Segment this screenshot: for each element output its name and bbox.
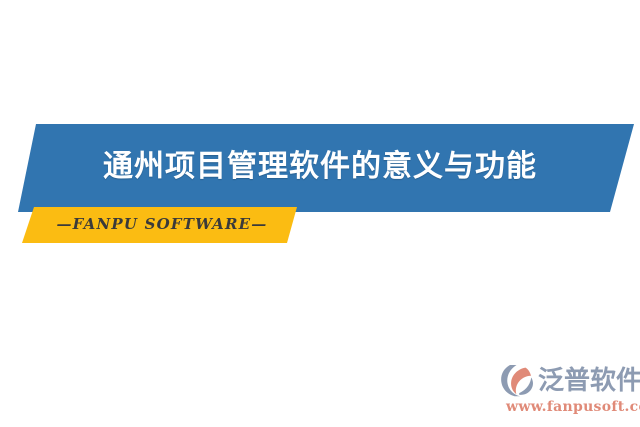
logo-url: www.fanpusoft.com [506,399,640,415]
fanpu-logo: 泛普软件 www.fanpusoft.com [500,362,638,418]
slide-subtitle: —FANPU SOFTWARE— [52,214,272,234]
logo-row: 泛普软件 [500,362,640,400]
logo-wordmark: 泛普软件 [538,366,640,396]
slide-title: 通州项目管理软件的意义与功能 [0,147,640,187]
slide-canvas: 通州项目管理软件的意义与功能 —FANPU SOFTWARE— 泛普软件 www… [0,0,640,427]
fanpu-swoosh-icon [500,364,536,398]
